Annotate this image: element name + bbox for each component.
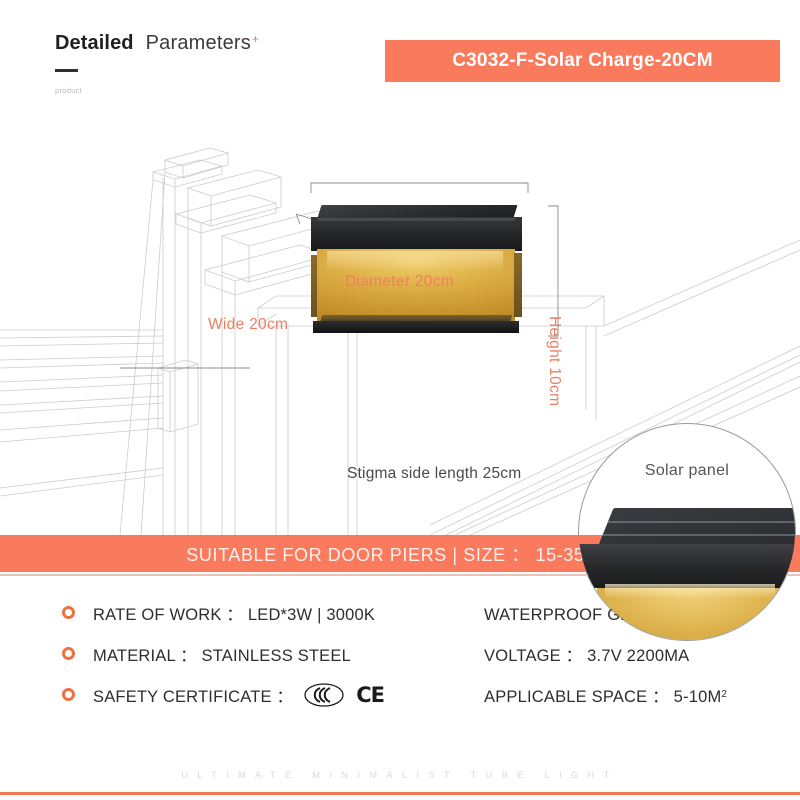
lamp-black-cap xyxy=(311,217,522,251)
lamp-glow-zoomed-highlight xyxy=(605,584,775,598)
bullet-ring-icon xyxy=(62,688,75,701)
ccc-certification-icon xyxy=(303,682,345,708)
plus-superscript: + xyxy=(252,33,259,45)
solar-cell-gridline xyxy=(608,521,796,523)
spec-text: SAFETY CERTIFICATE ： xyxy=(93,683,293,707)
sku-banner-label: C3032-F-Solar Charge-20CM xyxy=(452,50,713,72)
dimension-label-height: Height 10cm xyxy=(545,316,563,406)
spec-row: RATE OF WORK ： LED*3W | 3000K xyxy=(62,592,384,633)
dimension-label-wide: Wide 20cm xyxy=(208,316,288,334)
suitable-banner-label: SUITABLE FOR DOOR PIERS | SIZE ： 15-35CM xyxy=(186,541,613,567)
spec-row: SAFETY CERTIFICATE ： CE xyxy=(62,674,384,715)
lamp-cap-highlight xyxy=(317,218,515,221)
lamp-black-base xyxy=(313,321,519,333)
lamp-glow-right-side xyxy=(514,253,522,317)
header-block: Detailed Parameters + product xyxy=(55,32,355,95)
footer-tagline: ULTIMATE MINIMALIST TUBE LIGHT xyxy=(0,770,800,780)
ce-certification-icon: CE xyxy=(356,683,384,707)
page-title-strong: Detailed xyxy=(55,32,134,55)
spec-superscript: 2 xyxy=(721,689,727,700)
spec-text: APPLICABLE SPACE ： 5-10M xyxy=(484,683,721,707)
solar-panel-callout: Solar panel xyxy=(578,423,796,641)
solar-cell-gridline xyxy=(602,534,796,536)
page-title: Detailed Parameters + xyxy=(55,32,355,55)
sku-banner: C3032-F-Solar Charge-20CM xyxy=(385,40,780,82)
spec-text: MATERIAL ： STAINLESS STEEL xyxy=(93,642,351,666)
product-infographic-page: Detailed Parameters + product C3032-F-So… xyxy=(0,0,800,800)
base-caption: Stigma side length 25cm xyxy=(347,465,521,483)
specs-left-column: RATE OF WORK ： LED*3W | 3000K MATERIAL ：… xyxy=(62,592,384,715)
spec-text: VOLTAGE ： 3.7V 2200MA xyxy=(484,642,689,666)
page-title-light: Parameters xyxy=(146,32,251,55)
title-divider xyxy=(55,69,78,72)
certification-marks: CE xyxy=(303,682,384,708)
spec-text: RATE OF WORK ： LED*3W | 3000K xyxy=(93,601,375,625)
footer-accent-bar xyxy=(0,792,800,795)
dimension-label-diameter: Diameter 20cm xyxy=(345,273,454,291)
product-lamp xyxy=(311,205,522,339)
bullet-ring-icon xyxy=(62,647,75,660)
solar-panel-callout-label: Solar panel xyxy=(579,462,795,480)
spec-row: APPLICABLE SPACE ： 5-10M 2 xyxy=(484,674,728,715)
lamp-glow-sheen xyxy=(327,251,503,271)
illustration-stage: Diameter 20cm Wide 20cm Height 10cm Stig… xyxy=(0,110,800,535)
spec-row: MATERIAL ： STAINLESS STEEL xyxy=(62,633,384,674)
header-subtitle: product xyxy=(55,86,355,95)
lamp-rim-zoomed xyxy=(578,544,796,588)
bullet-ring-icon xyxy=(62,606,75,619)
